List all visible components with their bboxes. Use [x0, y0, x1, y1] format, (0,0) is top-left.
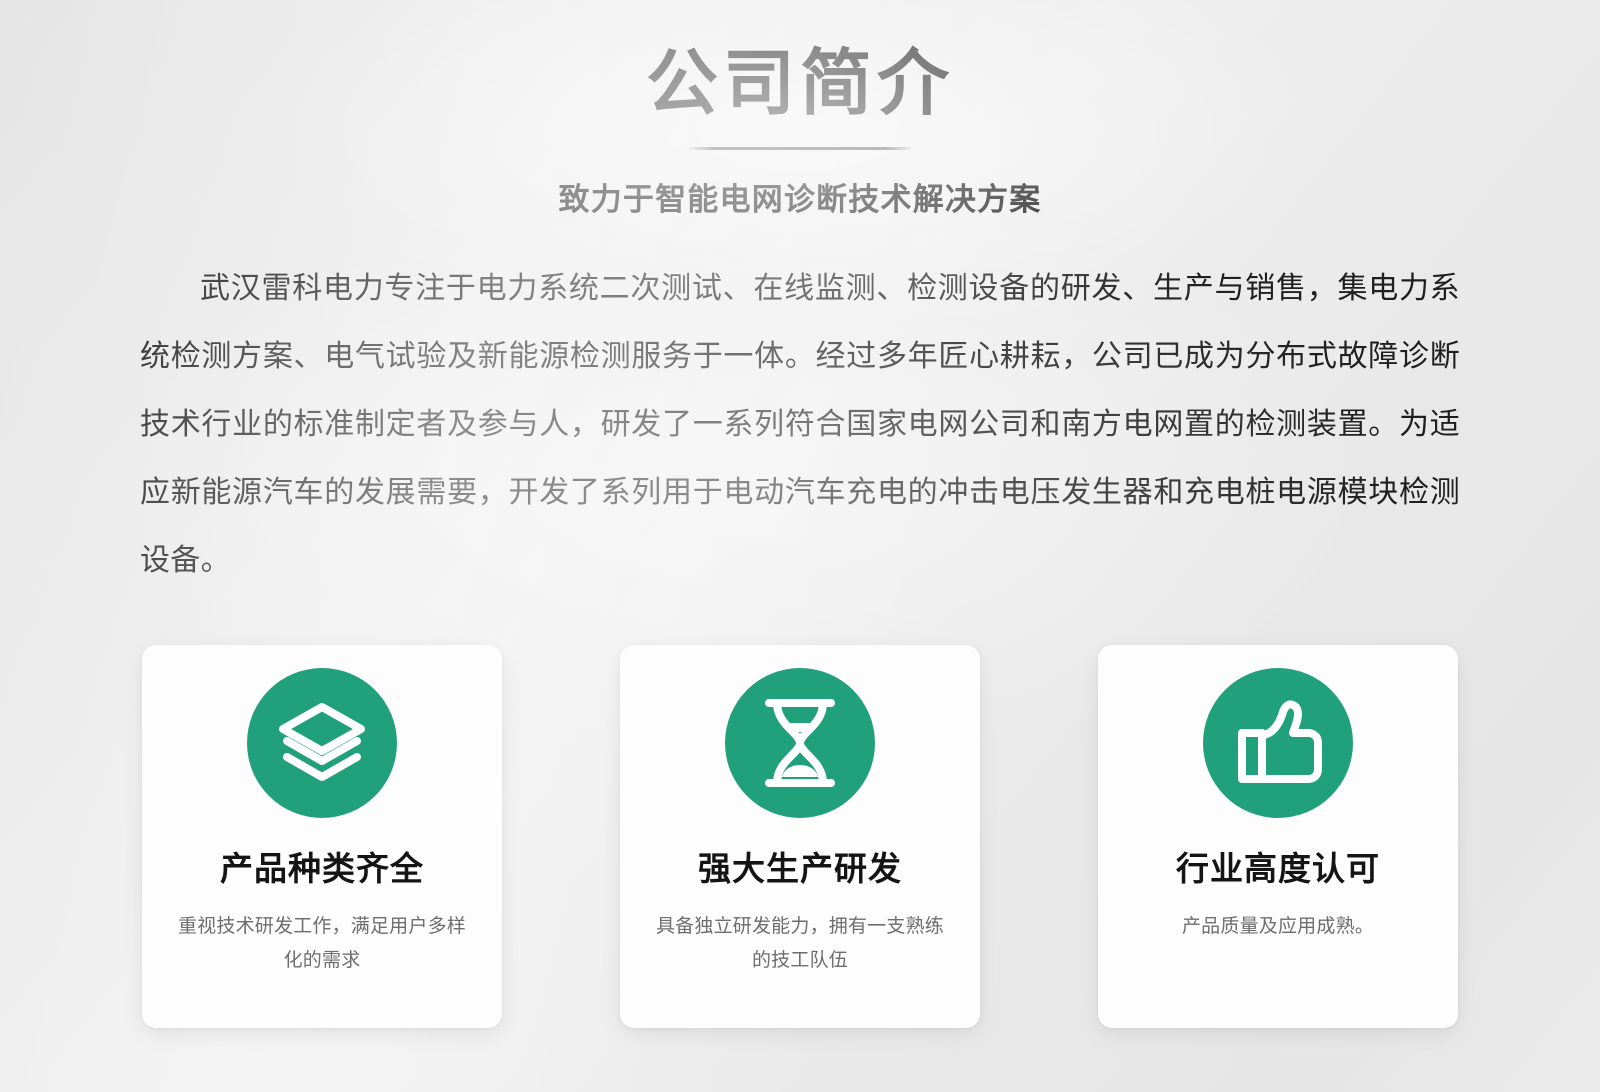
company-intro-paragraph: 武汉雷科电力专注于电力系统二次测试、在线监测、检测设备的研发、生产与销售，集电力… [140, 255, 1460, 595]
feature-card-description: 产品质量及应用成熟。 [1128, 910, 1428, 944]
thumbs-up-icon [1203, 668, 1353, 818]
feature-card[interactable]: 产品种类齐全 重视技术研发工作，满足用户多样化的需求 [142, 645, 502, 1028]
feature-card-title: 行业高度认可 [1176, 849, 1380, 889]
feature-card-description: 重视技术研发工作，满足用户多样化的需求 [172, 910, 472, 978]
feature-card[interactable]: 行业高度认可 产品质量及应用成熟。 [1098, 645, 1458, 1028]
page-title: 公司简介 [0, 44, 1600, 125]
page-header: 公司简介 致力于智能电网诊断技术解决方案 [0, 0, 1600, 219]
feature-card[interactable]: 强大生产研发 具备独立研发能力，拥有一支熟练的技工队伍 [620, 645, 980, 1028]
hourglass-icon [725, 668, 875, 818]
layers-icon [247, 668, 397, 818]
feature-card-list: 产品种类齐全 重视技术研发工作，满足用户多样化的需求 强大生产研发 具备独立 [0, 645, 1600, 1028]
company-profile-page: 公司简介 致力于智能电网诊断技术解决方案 武汉雷科电力专注于电力系统二次测试、在… [0, 0, 1600, 1092]
feature-card-title: 产品种类齐全 [220, 849, 424, 889]
title-divider [689, 147, 911, 150]
feature-card-title: 强大生产研发 [698, 849, 902, 889]
feature-card-description: 具备独立研发能力，拥有一支熟练的技工队伍 [650, 910, 950, 978]
page-subtitle: 致力于智能电网诊断技术解决方案 [0, 174, 1600, 219]
